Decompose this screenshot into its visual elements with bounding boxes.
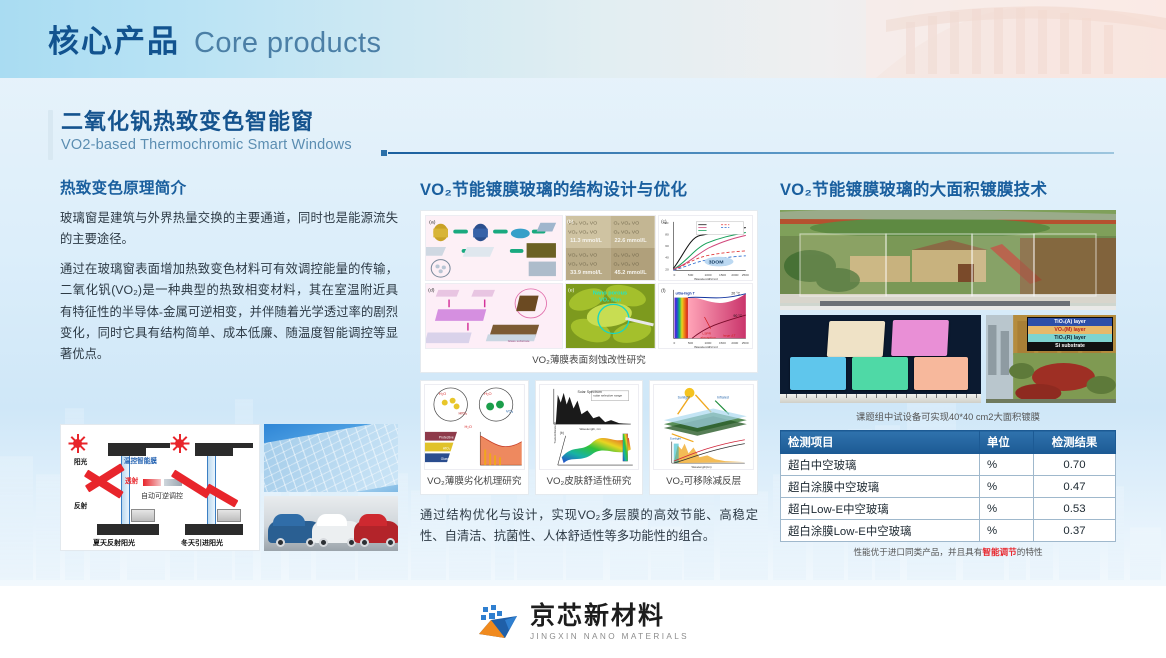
furniture-winter bbox=[217, 509, 241, 522]
window-ceiling-summer bbox=[108, 443, 170, 448]
footnote-suffix: 的特性 bbox=[1017, 547, 1043, 557]
plate-peach bbox=[914, 357, 968, 390]
column-3-title: VO₂节能镀膜玻璃的大面积镀膜技术 bbox=[780, 176, 1116, 200]
antireflection-figure: Sunlight Infrared Sunlight Wavelength(nm… bbox=[653, 384, 754, 470]
principle-photo-stack bbox=[264, 424, 398, 551]
panel-a-synthesis: (a) bbox=[425, 215, 563, 281]
column-structure-design: VO₂节能镀膜玻璃的结构设计与优化 bbox=[420, 176, 758, 556]
layer-label-1: VO₂(M) layer bbox=[1028, 326, 1112, 334]
cell-item: 超白中空玻璃 bbox=[781, 454, 980, 476]
svg-text:(d): (d) bbox=[428, 288, 435, 294]
company-logo-icon bbox=[477, 605, 521, 639]
cell-result: 0.70 bbox=[1034, 454, 1116, 476]
svg-text:Infrared: Infrared bbox=[717, 396, 729, 400]
section-title-en: VO2-based Thermochromic Smart Windows bbox=[61, 137, 352, 153]
section-title-cn: 二氧化钒热致变色智能窗 bbox=[61, 108, 352, 136]
layer-label-0: TiO₂(A) layer bbox=[1028, 318, 1112, 326]
svg-text:Wavelength(nm): Wavelength(nm) bbox=[692, 465, 712, 469]
section-heading: 二氧化钒热致变色智能窗 VO2-based Thermochromic Smar… bbox=[48, 108, 352, 153]
sub-figure-degradation: H₂OH₂O HfO₂ VO₂ H₂O ProtectiveHfO₂Glass bbox=[420, 380, 529, 495]
svg-text:90 °C: 90 °C bbox=[733, 314, 742, 318]
svg-text:1500: 1500 bbox=[719, 273, 726, 277]
svg-text:45.2 mmol/L: 45.2 mmol/L bbox=[615, 270, 648, 276]
table-row: 超白涂膜中空玻璃 % 0.47 bbox=[781, 476, 1116, 498]
column-2-title: VO₂节能镀膜玻璃的结构设计与优化 bbox=[420, 176, 758, 200]
principle-illustration-group: 阳光 反射 温控智能膜 透射 夏天反射阳光 自动可逆调控 冬天引进阳光 bbox=[60, 424, 398, 551]
sub-caption-1: VO₂皮肤舒适性研究 bbox=[539, 470, 640, 491]
company-logo-text: 京芯新材料 JINGXIN NANO MATERIALS bbox=[530, 604, 689, 641]
cell-result: 0.37 bbox=[1034, 520, 1116, 542]
glass-building-photo bbox=[264, 424, 398, 492]
sun-icon-summer bbox=[69, 435, 86, 452]
svg-text:Sunlight: Sunlight bbox=[678, 396, 690, 400]
principle-paragraph-2: 通过在玻璃窗表面增加热致变色材料可有效调控能量的传输，二氧化钒(VO₂)是一种典… bbox=[60, 259, 398, 365]
label-transmit: 透射 bbox=[125, 475, 138, 485]
svg-text:O₂ VO₂ VO: O₂ VO₂ VO bbox=[614, 230, 640, 236]
section-divider-rule bbox=[388, 152, 1114, 154]
logo-name-cn: 京芯新材料 bbox=[530, 604, 689, 629]
cell-result: 0.53 bbox=[1034, 498, 1116, 520]
svg-text:33.9 mmol/L: 33.9 mmol/L bbox=[570, 270, 603, 276]
svg-text:Wavelength(nm): Wavelength(nm) bbox=[694, 345, 718, 348]
label-smart-film: 温控智能膜 bbox=[124, 455, 157, 465]
panel-f-spectrum-chart: ultra-high T 20 °C 90 °C LSPR absorption… bbox=[658, 283, 753, 349]
plate-cream bbox=[827, 321, 886, 357]
plate-cyan bbox=[790, 357, 846, 390]
figure-panel-grid: (a) VO₂ VO₂ VOO₂ VO₂ VO VO₂ VO₂ VOO₂ VO₂… bbox=[425, 215, 753, 349]
sub-caption-0: VO₂薄膜劣化机理研究 bbox=[424, 470, 525, 491]
svg-text:O₂ VO₂ VO: O₂ VO₂ VO bbox=[614, 253, 640, 259]
svg-text:solar selective range: solar selective range bbox=[593, 394, 622, 398]
window-base-summer bbox=[97, 524, 159, 535]
svg-text:VO₂ VO₂ VO: VO₂ VO₂ VO bbox=[568, 262, 597, 268]
svg-text:H₂O: H₂O bbox=[439, 391, 446, 396]
label-sunlight: 阳光 bbox=[74, 456, 87, 466]
header-title-cn: 核心产品 bbox=[48, 16, 180, 61]
test-results-table: 检测项目 单位 检测结果 超白中空玻璃 % 0.70 超白涂膜中空玻璃 % 0.… bbox=[780, 430, 1116, 542]
layer-label-3: Si substrate bbox=[1028, 342, 1112, 350]
slide-root: 核心产品 Core products 二氧化钒热致变色智能窗 VO2-based… bbox=[0, 0, 1166, 658]
slide-header: 核心产品 Core products bbox=[0, 0, 1166, 78]
table-footnote: 性能优于进口同类产品，并且具有智能调节的特性 bbox=[780, 546, 1116, 558]
window-ceiling-winter bbox=[195, 443, 253, 448]
table-row: 超白涂膜Low-E中空玻璃 % 0.37 bbox=[781, 520, 1116, 542]
figure-caption-etching: VO₂薄膜表面刻蚀改性研究 bbox=[425, 349, 753, 370]
svg-text:O₂ VO₂ VO: O₂ VO₂ VO bbox=[614, 262, 640, 268]
campus-view-through-coating: TiO₂(A) layer VO₂(M) layer TiO₂(R) layer… bbox=[986, 315, 1116, 403]
column-1-title: 热致变色原理简介 bbox=[60, 176, 398, 198]
cell-item: 超白Low-E中空玻璃 bbox=[781, 498, 980, 520]
svg-text:(b): (b) bbox=[559, 431, 563, 435]
header-title-group: 核心产品 Core products bbox=[48, 16, 381, 61]
coated-plates-photo bbox=[780, 315, 981, 403]
svg-text:Nano porous: Nano porous bbox=[593, 291, 627, 297]
svg-text:20: 20 bbox=[665, 267, 669, 271]
svg-text:large ΔT: large ΔT bbox=[723, 333, 735, 337]
svg-text:40: 40 bbox=[665, 256, 669, 260]
principle-paragraph-1: 玻璃窗是建筑与外界热量交换的主要通道，同时也是能源流失的主要途径。 bbox=[60, 208, 398, 250]
svg-text:Wavelength, nm: Wavelength, nm bbox=[579, 427, 601, 431]
svg-text:(a): (a) bbox=[429, 220, 436, 226]
svg-text:(f): (f) bbox=[661, 288, 666, 293]
svg-text:Wavelength(nm): Wavelength(nm) bbox=[694, 277, 718, 280]
cell-item: 超白涂膜Low-E中空玻璃 bbox=[781, 520, 980, 542]
sub-figure-skin-comfort: solar selective range Solar Spectrum Wav… bbox=[535, 380, 644, 495]
sub-figure-row: H₂OH₂O HfO₂ VO₂ H₂O ProtectiveHfO₂Glass bbox=[420, 380, 758, 495]
sub-caption-2: VO₂可移除减反层 bbox=[653, 470, 754, 491]
panel-e-leaf-photo: Nano porous VO₂ film (e) bbox=[565, 283, 656, 349]
panel-c-transmittance-chart: 3DOM 05001000 150020002500 1008060 4020 bbox=[658, 215, 753, 281]
coating-samples-row: TiO₂(A) layer VO₂(M) layer TiO₂(R) layer… bbox=[780, 315, 1116, 403]
svg-text:3DOM: 3DOM bbox=[709, 260, 724, 266]
th-result: 检测结果 bbox=[1034, 431, 1116, 454]
svg-text:0: 0 bbox=[673, 273, 675, 277]
skin-comfort-figure: solar selective range Solar Spectrum Wav… bbox=[539, 384, 640, 470]
svg-text:VO₂ film: VO₂ film bbox=[599, 298, 621, 304]
plate-green bbox=[852, 357, 908, 390]
layer-label-2: TiO₂(R) layer bbox=[1028, 334, 1112, 342]
furniture-summer bbox=[131, 509, 155, 522]
cell-item: 超白涂膜中空玻璃 bbox=[781, 476, 980, 498]
window-base-winter bbox=[185, 524, 243, 535]
svg-text:H₂O: H₂O bbox=[484, 391, 491, 396]
logo-name-en: JINGXIN NANO MATERIALS bbox=[530, 632, 689, 641]
svg-text:absorption: absorption bbox=[700, 335, 716, 339]
svg-text:HfO₂: HfO₂ bbox=[459, 410, 468, 415]
cars-photo bbox=[264, 496, 398, 551]
svg-text:Protective: Protective bbox=[439, 436, 454, 440]
svg-text:Glass: Glass bbox=[441, 457, 450, 461]
coating-equipment-caption: 课题组中试设备可实现40*40 cm2大面积镀膜 bbox=[780, 409, 1116, 423]
svg-text:2000: 2000 bbox=[731, 341, 738, 345]
footnote-highlight: 智能调节 bbox=[982, 547, 1016, 557]
svg-text:Transmittance,%: Transmittance,% bbox=[552, 421, 556, 443]
sun-icon-winter bbox=[171, 435, 188, 452]
svg-text:(b): (b) bbox=[567, 219, 574, 225]
label-reflect: 反射 bbox=[74, 500, 87, 510]
caption-summer: 夏天反射阳光 bbox=[93, 538, 135, 548]
cell-result: 0.47 bbox=[1034, 476, 1116, 498]
structure-summary: 通过结构优化与设计，实现VO₂多层膜的高效节能、高稳定性、自清洁、抗菌性、人体舒… bbox=[420, 505, 758, 547]
svg-text:2500: 2500 bbox=[742, 341, 749, 345]
svg-text:Solar Spectrum: Solar Spectrum bbox=[577, 390, 601, 394]
svg-text:(c): (c) bbox=[661, 219, 667, 224]
header-title-en: Core products bbox=[194, 27, 381, 60]
layer-stack-legend: TiO₂(A) layer VO₂(M) layer TiO₂(R) layer… bbox=[1027, 317, 1113, 351]
degradation-figure: H₂OH₂O HfO₂ VO₂ H₂O ProtectiveHfO₂Glass bbox=[424, 384, 525, 470]
svg-text:11.3 mmol/L: 11.3 mmol/L bbox=[570, 238, 603, 244]
caption-winter: 冬天引进阳光 bbox=[181, 538, 223, 548]
svg-text:VO₂ VO₂ VO: VO₂ VO₂ VO bbox=[568, 253, 597, 259]
sub-figure-antireflection: Sunlight Infrared Sunlight Wavelength(nm… bbox=[649, 380, 758, 495]
svg-text:VO₂: VO₂ bbox=[506, 408, 514, 413]
label-auto-reversible: 自动可逆调控 bbox=[141, 491, 183, 501]
panel-d-process: Glass substrate (d) bbox=[425, 283, 563, 349]
column-principle: 热致变色原理简介 玻璃窗是建筑与外界热量交换的主要通道，同时也是能源流失的主要途… bbox=[60, 176, 398, 374]
cell-unit: % bbox=[980, 476, 1034, 498]
column-large-area-coating: VO₂节能镀膜玻璃的大面积镀膜技术 bbox=[780, 176, 1116, 558]
panel-b-samples: VO₂ VO₂ VOO₂ VO₂ VO VO₂ VO₂ VOO₂ VO₂ VO … bbox=[565, 215, 656, 281]
svg-text:ultra-high T: ultra-high T bbox=[675, 292, 695, 296]
svg-text:O₂ VO₂ VO: O₂ VO₂ VO bbox=[614, 221, 640, 227]
svg-text:2000: 2000 bbox=[731, 273, 738, 277]
svg-text:80: 80 bbox=[665, 232, 669, 236]
svg-text:1500: 1500 bbox=[719, 341, 726, 345]
large-glass-panel-photo bbox=[780, 210, 1116, 310]
table-row: 超白Low-E中空玻璃 % 0.53 bbox=[781, 498, 1116, 520]
car-red bbox=[354, 521, 398, 543]
header-architecture-image bbox=[866, 0, 1166, 78]
svg-text:60: 60 bbox=[665, 244, 669, 248]
table-row: 超白中空玻璃 % 0.70 bbox=[781, 454, 1116, 476]
svg-text:500: 500 bbox=[688, 273, 694, 277]
table-header-row: 检测项目 单位 检测结果 bbox=[781, 431, 1116, 454]
cell-unit: % bbox=[980, 520, 1034, 542]
svg-text:Sunlight: Sunlight bbox=[670, 437, 681, 441]
svg-text:2500: 2500 bbox=[742, 273, 749, 277]
svg-text:(e): (e) bbox=[568, 288, 575, 294]
svg-text:500: 500 bbox=[688, 341, 694, 345]
th-item: 检测项目 bbox=[781, 431, 980, 454]
svg-text:Glass substrate: Glass substrate bbox=[508, 339, 530, 343]
smart-window-diagram: 阳光 反射 温控智能膜 透射 夏天反射阳光 自动可逆调控 冬天引进阳光 bbox=[60, 424, 260, 551]
svg-text:20 °C: 20 °C bbox=[731, 292, 740, 296]
slide-footer: 京芯新材料 JINGXIN NANO MATERIALS bbox=[0, 586, 1166, 658]
th-unit: 单位 bbox=[980, 431, 1034, 454]
svg-text:VO₂ VO₂ VO: VO₂ VO₂ VO bbox=[568, 230, 597, 236]
plate-pink bbox=[891, 320, 949, 356]
svg-text:HfO₂: HfO₂ bbox=[443, 446, 451, 450]
footnote-prefix: 性能优于进口同类产品，并且具有 bbox=[853, 547, 982, 557]
ruler bbox=[780, 394, 981, 403]
cell-unit: % bbox=[980, 498, 1034, 520]
cell-unit: % bbox=[980, 454, 1034, 476]
etching-figure-card: (a) VO₂ VO₂ VOO₂ VO₂ VO VO₂ VO₂ VOO₂ VO₂… bbox=[420, 210, 758, 373]
svg-text:22.6 mmol/L: 22.6 mmol/L bbox=[615, 238, 648, 244]
svg-text:H₂O: H₂O bbox=[464, 424, 471, 429]
